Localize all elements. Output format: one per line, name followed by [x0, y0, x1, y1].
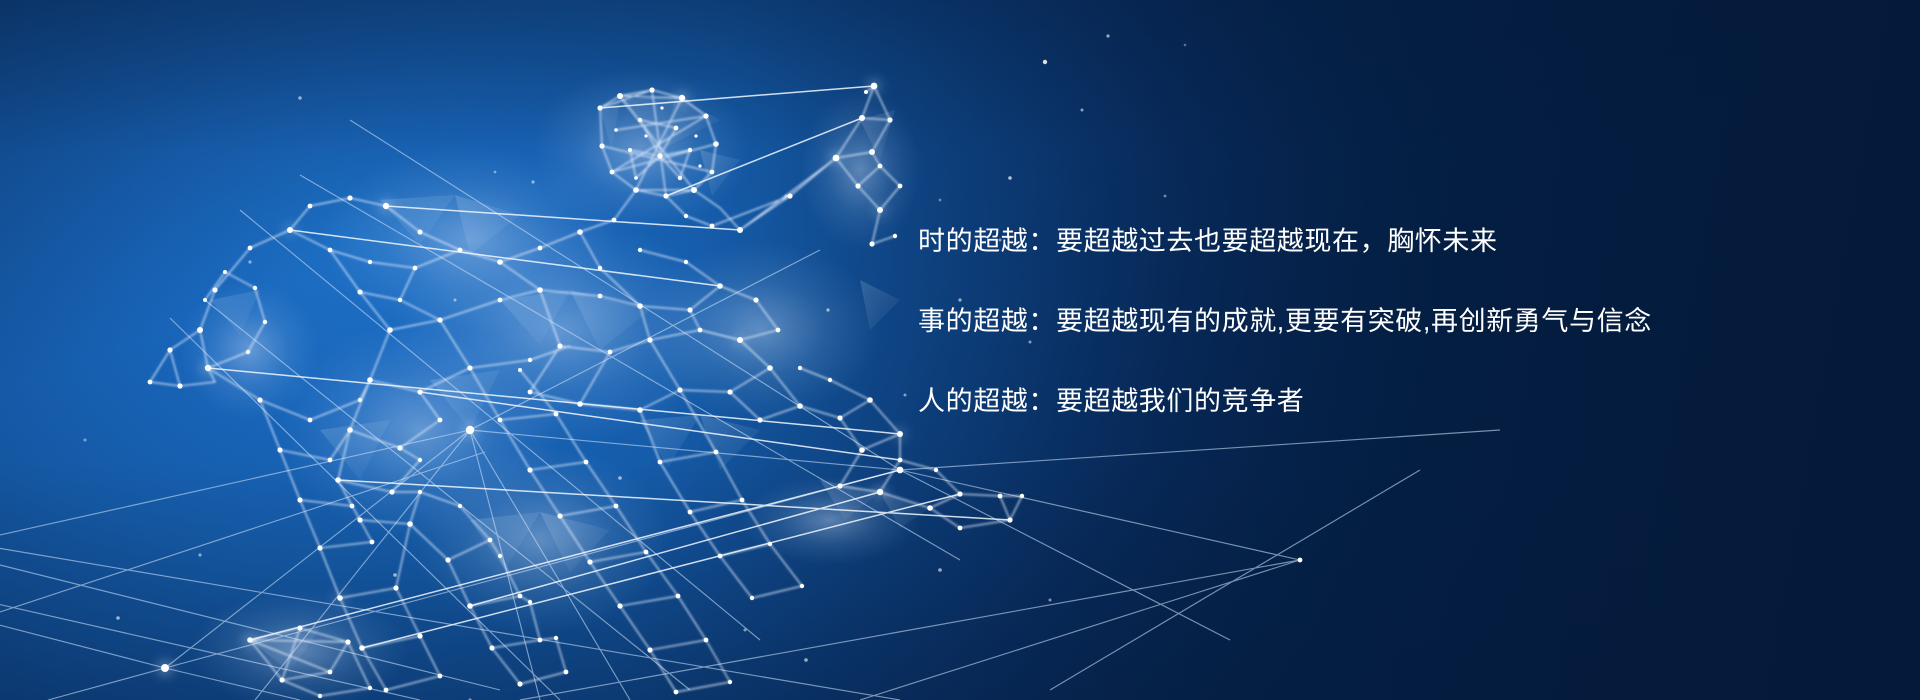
- tagline-matter: 事的超越：要超越现有的成就,更要有突破,再创新勇气与信念: [918, 308, 1818, 335]
- tagline-block: 时的超越：要超越过去也要超越现在，胸怀未来 事的超越：要超越现有的成就,更要有突…: [918, 228, 1818, 415]
- tagline-time: 时的超越：要超越过去也要超越现在，胸怀未来: [918, 228, 1818, 255]
- figure-glow-haze: [180, 68, 920, 700]
- tagline-people: 人的超越：要超越我们的竞争者: [918, 388, 1818, 415]
- hero-banner: 时的超越：要超越过去也要超越现在，胸怀未来 事的超越：要超越现有的成就,更要有突…: [0, 0, 1920, 700]
